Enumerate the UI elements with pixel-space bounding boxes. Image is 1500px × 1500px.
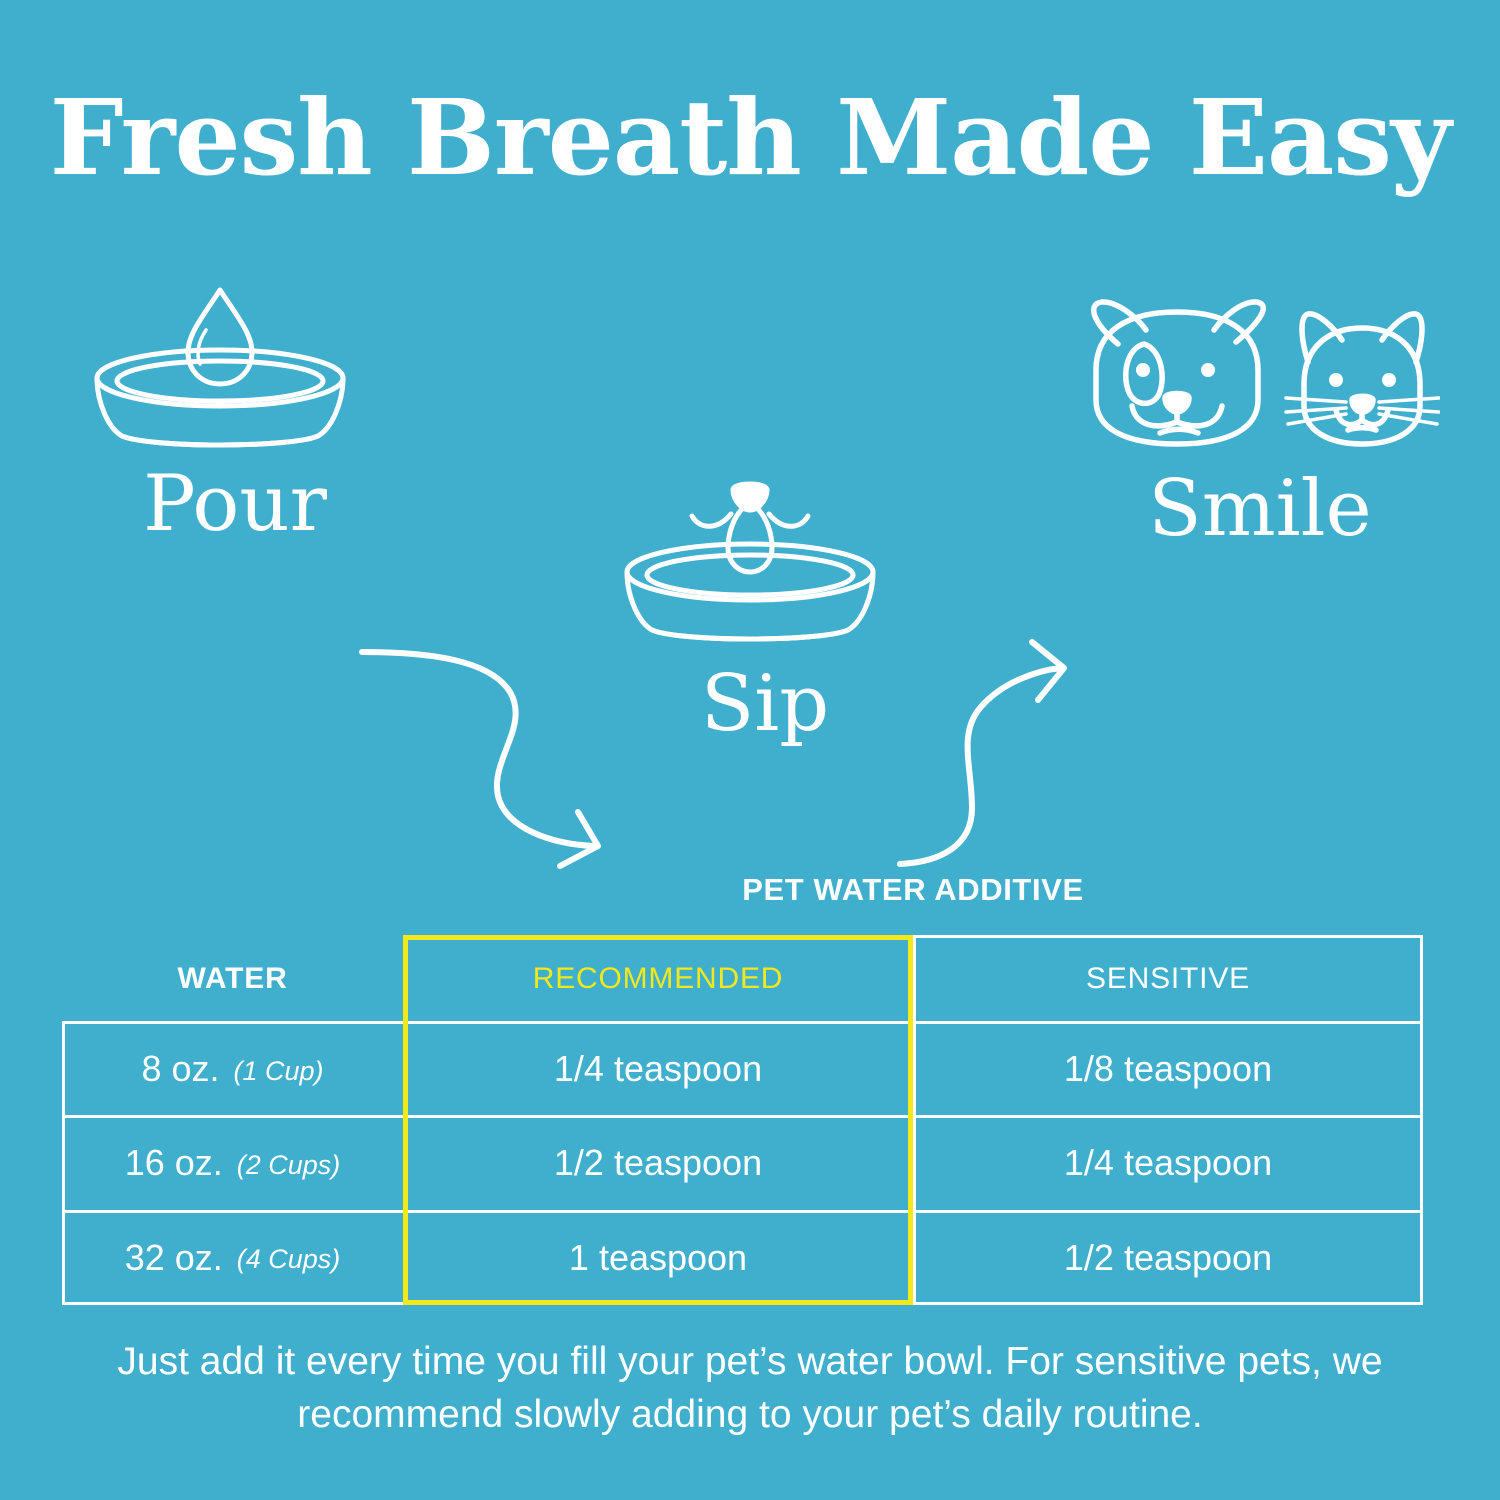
cell-sensitive-dose: 1/4 teaspoon <box>913 1116 1423 1210</box>
footer-instructions: Just add it every time you fill your pet… <box>95 1336 1405 1441</box>
table-row-divider-2 <box>62 1210 1423 1213</box>
table-row: 8 oz. (1 Cup) 1/4 teaspoon 1/8 teaspoon <box>62 1022 1423 1116</box>
column-header-water: WATER <box>62 935 403 1022</box>
table-top-border <box>913 935 1423 938</box>
curved-arrow-sip-to-smile-icon <box>870 620 1100 890</box>
water-cups-value: (2 Cups) <box>237 1150 341 1181</box>
cell-sensitive-dose: 1/8 teaspoon <box>913 1022 1423 1116</box>
cell-recommended-dose: 1/2 teaspoon <box>403 1116 913 1210</box>
page-title: Fresh Breath Made Easy <box>0 86 1500 190</box>
step-pour: Pour <box>70 268 400 546</box>
column-header-sensitive: SENSITIVE <box>913 935 1423 1022</box>
dog-and-cat-faces-icon <box>1060 288 1460 463</box>
cell-recommended-dose: 1/4 teaspoon <box>403 1022 913 1116</box>
steps-section: Pour Sip <box>0 250 1500 790</box>
dosage-table-grid: WATER RECOMMENDED SENSITIVE 8 oz. (1 Cup… <box>62 935 1423 1305</box>
cell-water-amount: 16 oz. (2 Cups) <box>62 1116 403 1210</box>
table-column-divider-sensitive <box>913 935 916 1305</box>
cell-recommended-dose: 1 teaspoon <box>403 1211 913 1305</box>
table-left-border <box>62 1021 65 1305</box>
table-row: 32 oz. (4 Cups) 1 teaspoon 1/2 teaspoon <box>62 1211 1423 1305</box>
table-bottom-border <box>62 1302 1423 1305</box>
water-cups-value: (1 Cup) <box>234 1056 324 1087</box>
table-body: 8 oz. (1 Cup) 1/4 teaspoon 1/8 teaspoon … <box>62 1022 1423 1305</box>
cell-water-amount: 8 oz. (1 Cup) <box>62 1022 403 1116</box>
cell-sensitive-dose: 1/2 teaspoon <box>913 1211 1423 1305</box>
water-amount-value: 32 oz. <box>125 1237 223 1279</box>
curved-arrow-pour-to-sip-icon <box>350 630 630 870</box>
step-smile-label: Smile <box>1060 469 1460 551</box>
step-pour-label: Pour <box>70 464 400 546</box>
cell-water-amount: 32 oz. (4 Cups) <box>62 1211 403 1305</box>
table-row-divider-1 <box>62 1115 1423 1118</box>
cat-face-icon <box>1286 314 1439 444</box>
pet-water-additive-header: PET WATER ADDITIVE <box>403 872 1423 908</box>
column-header-recommended: RECOMMENDED <box>403 935 913 1022</box>
dog-face-icon <box>1094 302 1264 444</box>
table-header-divider <box>62 1021 1423 1024</box>
step-smile: Smile <box>1060 288 1460 551</box>
table-right-border <box>1420 935 1423 1305</box>
water-amount-value: 8 oz. <box>141 1048 219 1090</box>
water-bowl-with-droplet-icon <box>70 268 400 458</box>
water-cups-value: (4 Cups) <box>237 1244 341 1275</box>
water-amount-value: 16 oz. <box>125 1142 223 1184</box>
table-row: 16 oz. (2 Cups) 1/2 teaspoon 1/4 teaspoo… <box>62 1116 1423 1210</box>
table-header-row: WATER RECOMMENDED SENSITIVE <box>62 935 1423 1022</box>
dosage-table: WATER RECOMMENDED SENSITIVE 8 oz. (1 Cup… <box>62 935 1423 1305</box>
